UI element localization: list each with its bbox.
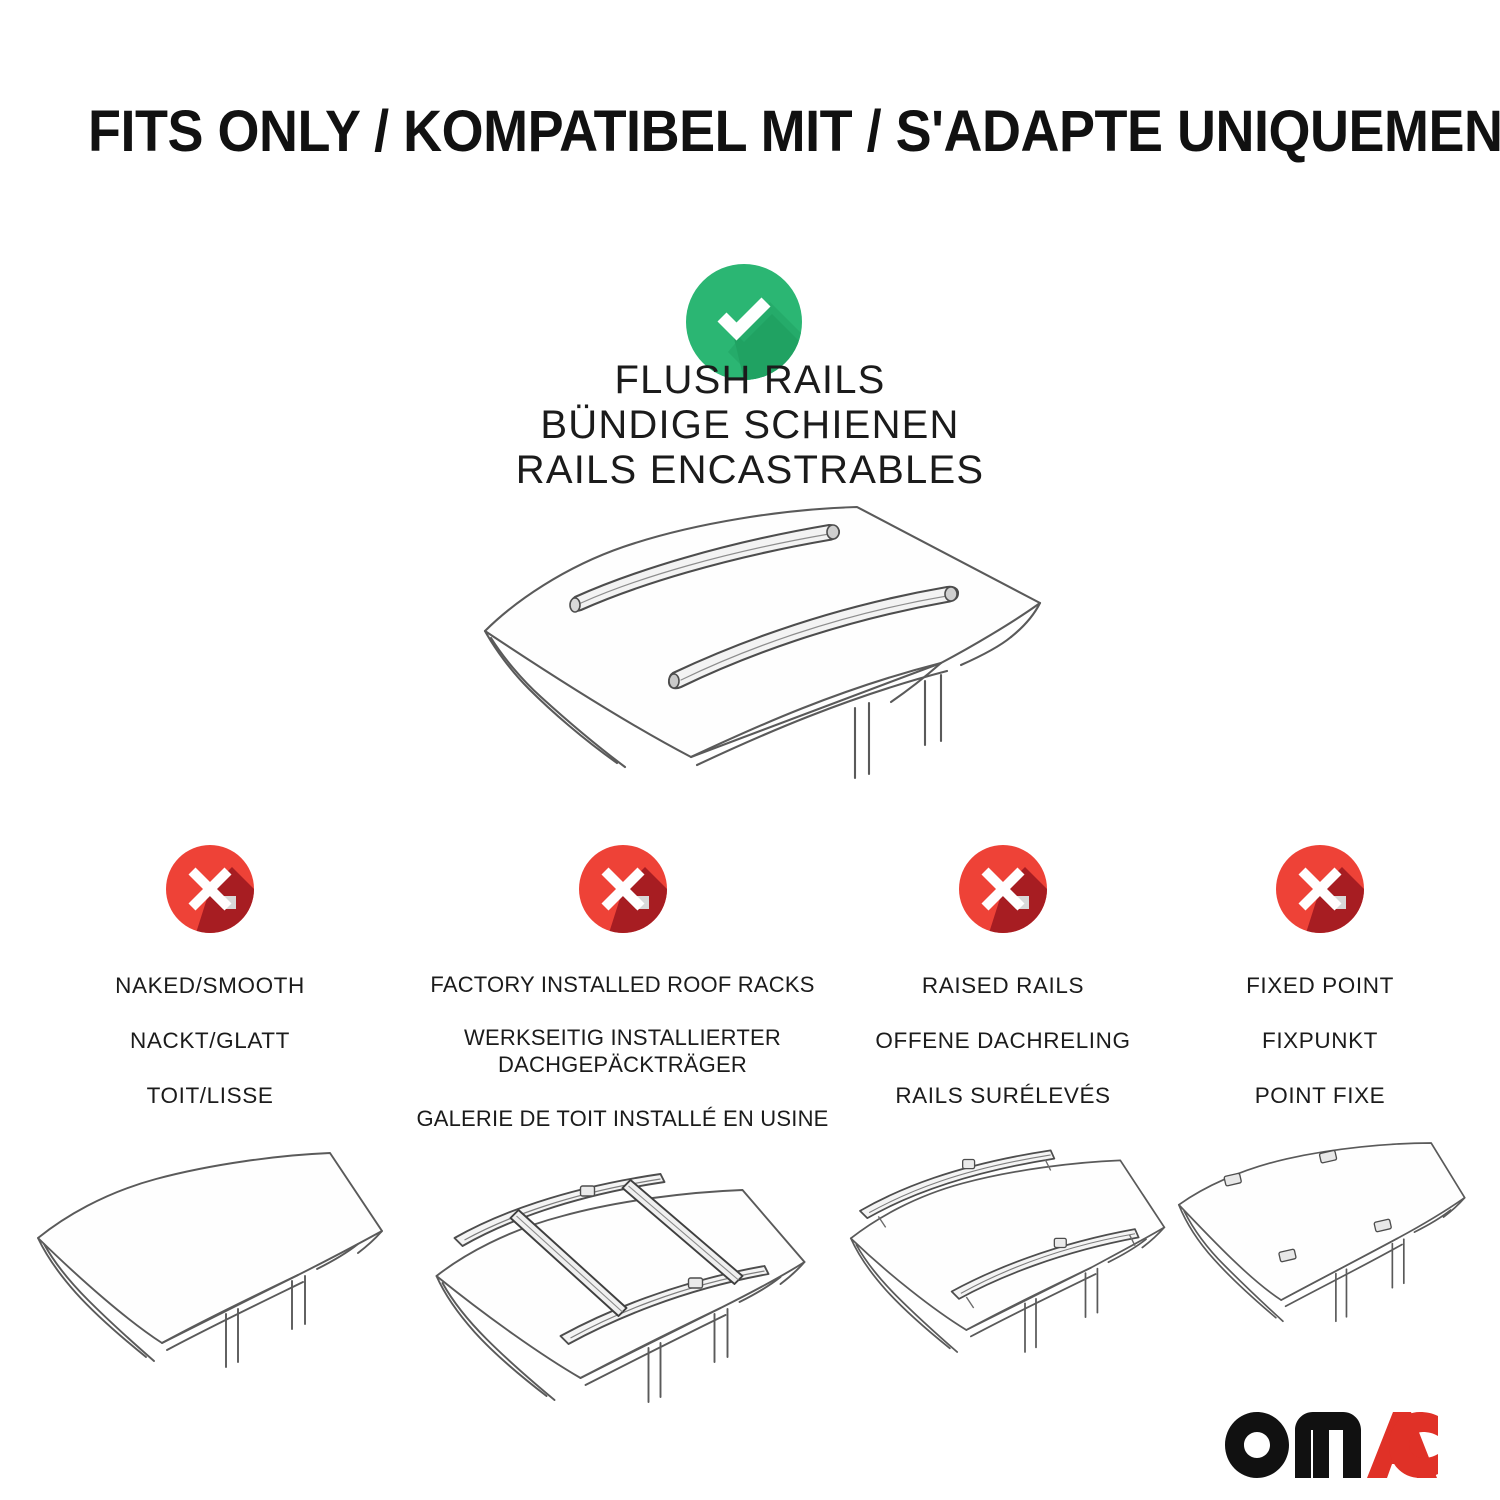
infographic-root: FITS ONLY / KOMPATIBEL MIT / S'ADAPTE UN… <box>0 0 1500 1500</box>
label-de: NACKT/GLATT <box>30 1027 390 1054</box>
incompatible-item-fixed-point: FIXED POINT FIXPUNKT POINT FIXE <box>1170 845 1470 1393</box>
car-roof-fixed-point-illustration <box>1170 1143 1470 1393</box>
incompatible-item-naked-smooth: NAKED/SMOOTH NACKT/GLATT TOIT/LISSE <box>30 845 390 1393</box>
compatible-label-de: BÜNDIGE SCHIENEN <box>250 403 1250 448</box>
car-roof-factory-racks-illustration <box>400 1166 845 1416</box>
incompatible-label-block: FACTORY INSTALLED ROOF RACKS WERKSEITIG … <box>400 945 845 1160</box>
label-en: RAISED RAILS <box>838 972 1168 999</box>
incompatible-item-raised-rails: RAISED RAILS OFFENE DACHRELING RAILS SUR… <box>838 845 1168 1393</box>
car-roof-naked-illustration <box>30 1143 390 1393</box>
compatible-section: FLUSH RAILS BÜNDIGE SCHIENEN RAILS ENCAS… <box>0 0 1500 820</box>
red-cross-icon <box>579 845 667 933</box>
compatible-label-en: FLUSH RAILS <box>250 358 1250 403</box>
car-roof-raised-rails-illustration <box>838 1143 1168 1393</box>
compatible-label-fr: RAILS ENCASTRABLES <box>250 448 1250 493</box>
label-fr: GALERIE DE TOIT INSTALLÉ EN USINE <box>400 1106 845 1133</box>
label-fr: TOIT/LISSE <box>30 1082 390 1109</box>
label-en: FIXED POINT <box>1170 972 1470 999</box>
compatible-label-block: FLUSH RAILS BÜNDIGE SCHIENEN RAILS ENCAS… <box>250 358 1250 492</box>
label-fr: RAILS SURÉLEVÉS <box>838 1082 1168 1109</box>
label-de: WERKSEITIG INSTALLIERTER DACHGEPÄCKTRÄGE… <box>400 1025 845 1079</box>
omac-logo <box>1225 1412 1450 1478</box>
red-cross-icon <box>166 845 254 933</box>
label-de: OFFENE DACHRELING <box>838 1027 1168 1054</box>
car-roof-with-flush-rails-illustration <box>455 495 1055 795</box>
label-en: NAKED/SMOOTH <box>30 972 390 999</box>
label-fr: POINT FIXE <box>1170 1082 1470 1109</box>
incompatible-section: NAKED/SMOOTH NACKT/GLATT TOIT/LISSE <box>0 845 1500 1325</box>
incompatible-label-block: NAKED/SMOOTH NACKT/GLATT TOIT/LISSE <box>30 945 390 1137</box>
label-de: FIXPUNKT <box>1170 1027 1470 1054</box>
label-en: FACTORY INSTALLED ROOF RACKS <box>400 972 845 999</box>
incompatible-label-block: FIXED POINT FIXPUNKT POINT FIXE <box>1170 945 1470 1137</box>
red-cross-icon <box>959 845 1047 933</box>
incompatible-label-block: RAISED RAILS OFFENE DACHRELING RAILS SUR… <box>838 945 1168 1137</box>
red-cross-icon <box>1276 845 1364 933</box>
incompatible-item-factory-roof-racks: FACTORY INSTALLED ROOF RACKS WERKSEITIG … <box>400 845 845 1416</box>
